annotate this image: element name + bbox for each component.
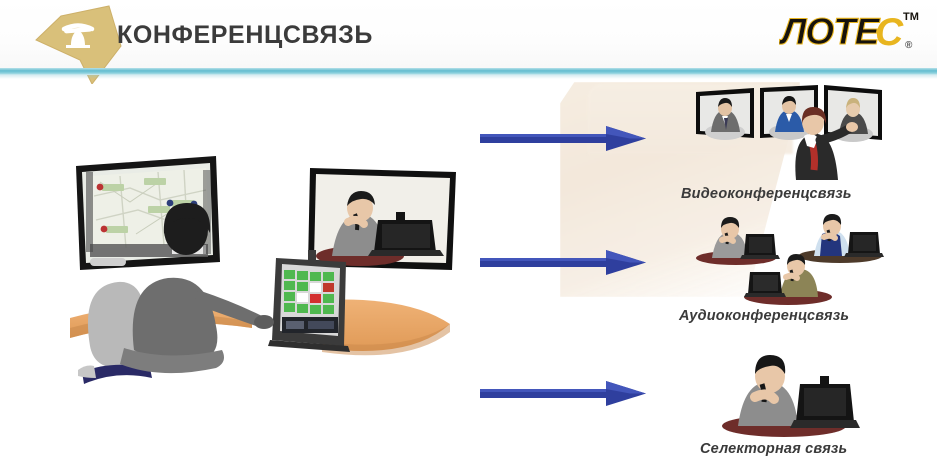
header-divider-shadow — [0, 75, 937, 79]
arrow-to-audio — [480, 248, 650, 278]
three-video-panels-illustration — [692, 82, 888, 180]
slide-root: КОНФЕРЕНЦСВЯЗЬ ЛОТЕ ЛОТЕ С TM ® — [0, 0, 937, 466]
single-operator-illustration — [702, 352, 872, 438]
branch-label-video: Видеоконференцсвязь — [681, 186, 852, 202]
control-room-illustration — [60, 150, 480, 400]
brand-logo: ЛОТЕ ЛОТЕ С TM ® — [779, 6, 925, 58]
header-divider — [0, 68, 937, 75]
slide-header: КОНФЕРЕНЦСВЯЗЬ ЛОТЕ ЛОТЕ С TM ® — [0, 0, 937, 72]
branch-label-selector: Селекторная связь — [700, 441, 847, 457]
three-operators-illustration — [688, 214, 888, 306]
page-title: КОНФЕРЕНЦСВЯЗЬ — [117, 21, 373, 50]
video-call-display-icon — [308, 168, 456, 270]
svg-text:С: С — [875, 11, 904, 54]
svg-text:TM: TM — [903, 11, 919, 23]
arrow-to-video — [480, 124, 650, 154]
svg-text:®: ® — [905, 40, 913, 51]
svg-text:ЛОТЕ: ЛОТЕ — [779, 11, 881, 52]
console-dashboard-icon — [268, 250, 350, 352]
branch-label-audio: Аудиоконференцсвязь — [679, 308, 849, 324]
arrow-to-selector — [480, 379, 650, 409]
